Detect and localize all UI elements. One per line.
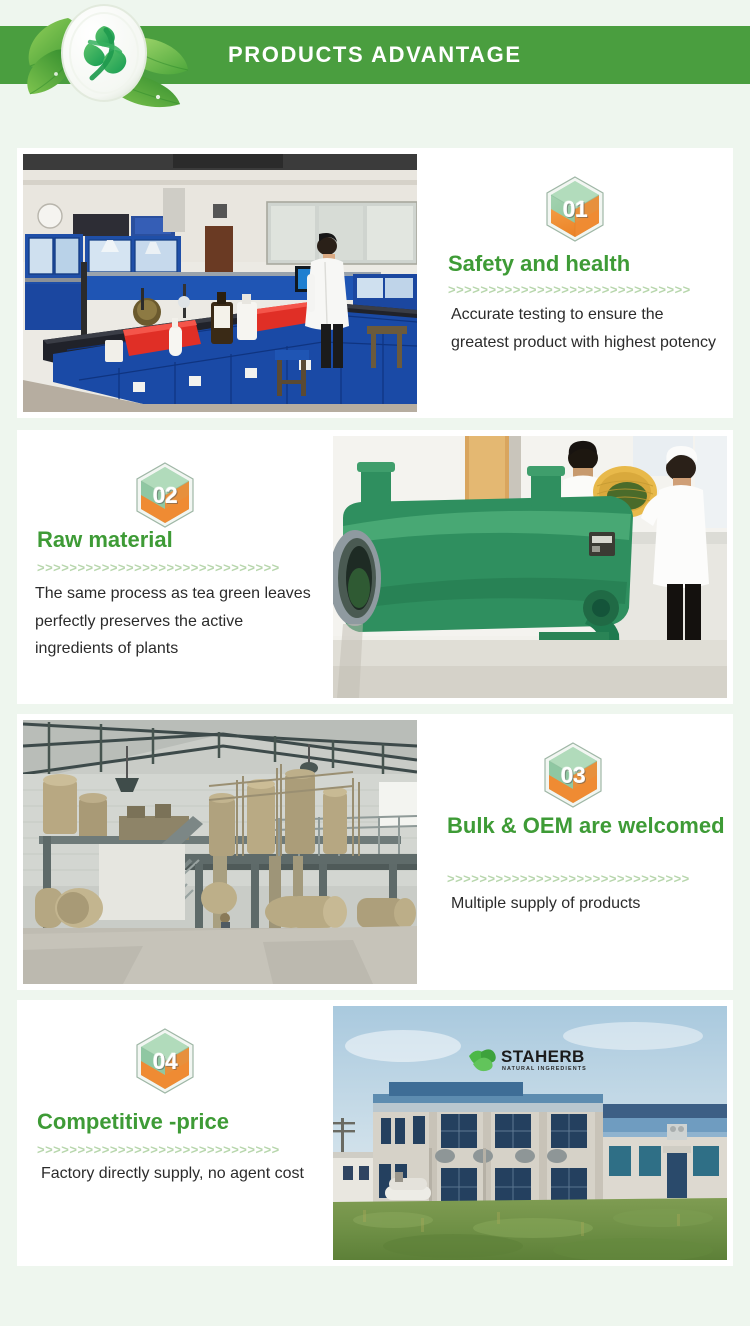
svg-text:STAHERB: STAHERB (501, 1047, 585, 1066)
tea-roasting-machine-photo-wrap (333, 430, 733, 704)
chevron-divider: >>>>>>>>>>>>>>>>>>>>>>>>>>>>>> (447, 871, 699, 886)
advantage-card-1-title: Safety and health (448, 252, 630, 277)
advantage-card-2-title: Raw material (37, 528, 173, 553)
staherb-rooftop-sign: STAHERB NATURAL INGREDIENTS (469, 1047, 587, 1072)
laboratory-photo (23, 154, 417, 412)
products-advantage-page: PRODUCTS ADVANTAGE (0, 0, 750, 1326)
tea-roasting-machine-photo-art (333, 436, 727, 698)
step-badge-03: 03 (543, 742, 603, 808)
chevron-divider: >>>>>>>>>>>>>>>>>>>>>>>>>>>>>> (37, 1142, 289, 1157)
advantage-card-4: STAHERB NATURAL INGREDIENTS (17, 1000, 733, 1266)
factory-building-photo-art: STAHERB NATURAL INGREDIENTS (333, 1006, 727, 1260)
advantage-card-3-description: Multiple supply of products (451, 890, 717, 918)
advantage-card-2: 02 Raw material >>>>>>>>>>>>>>>>>>>>>>>>… (17, 430, 733, 704)
tea-roasting-machine-photo (333, 436, 727, 698)
advantage-card-1-text: 01 Safety and health >>>>>>>>>>>>>>>>>>>… (417, 148, 733, 418)
step-badge-02: 02 (135, 462, 195, 528)
advantage-card-4-text: 04 Competitive -price >>>>>>>>>>>>>>>>>>… (17, 1000, 333, 1266)
laboratory-photo-art (23, 154, 417, 412)
advantage-card-1: 01 Safety and health >>>>>>>>>>>>>>>>>>>… (17, 148, 733, 418)
factory-building-photo-wrap: STAHERB NATURAL INGREDIENTS (333, 1000, 733, 1266)
laboratory-photo-wrap (17, 148, 417, 418)
extraction-workshop-photo-art (23, 720, 417, 984)
page-title: PRODUCTS ADVANTAGE (228, 26, 522, 84)
step-badge-01: 01 (545, 176, 605, 242)
advantage-card-3-title: Bulk & OEM are welcomed (447, 814, 725, 839)
step-badge-01-number: 01 (545, 176, 605, 242)
advantage-card-2-description: The same process as tea green leaves per… (35, 580, 315, 663)
step-badge-04-number: 04 (135, 1028, 195, 1094)
advantage-card-3-text: 03 Bulk & OEM are welcomed >>>>>>>>>>>>>… (417, 714, 733, 990)
chevron-divider: >>>>>>>>>>>>>>>>>>>>>>>>>>>>>> (448, 282, 700, 297)
extraction-workshop-photo-wrap (17, 714, 417, 990)
step-badge-02-number: 02 (135, 462, 195, 528)
staherb-leaf-logo (18, 0, 218, 112)
factory-building-photo: STAHERB NATURAL INGREDIENTS (333, 1006, 727, 1260)
advantage-card-2-text: 02 Raw material >>>>>>>>>>>>>>>>>>>>>>>>… (17, 430, 333, 704)
page-header: PRODUCTS ADVANTAGE (0, 0, 750, 110)
advantage-card-3: 03 Bulk & OEM are welcomed >>>>>>>>>>>>>… (17, 714, 733, 990)
step-badge-04: 04 (135, 1028, 195, 1094)
extraction-workshop-photo (23, 720, 417, 984)
svg-text:NATURAL INGREDIENTS: NATURAL INGREDIENTS (502, 1066, 587, 1072)
advantage-card-4-title: Competitive -price (37, 1110, 229, 1135)
step-badge-03-number: 03 (543, 742, 603, 808)
advantage-card-4-description: Factory directly supply, no agent cost (41, 1160, 307, 1188)
advantage-card-1-description: Accurate testing to ensure the greatest … (451, 301, 717, 356)
chevron-divider: >>>>>>>>>>>>>>>>>>>>>>>>>>>>>> (37, 560, 289, 575)
